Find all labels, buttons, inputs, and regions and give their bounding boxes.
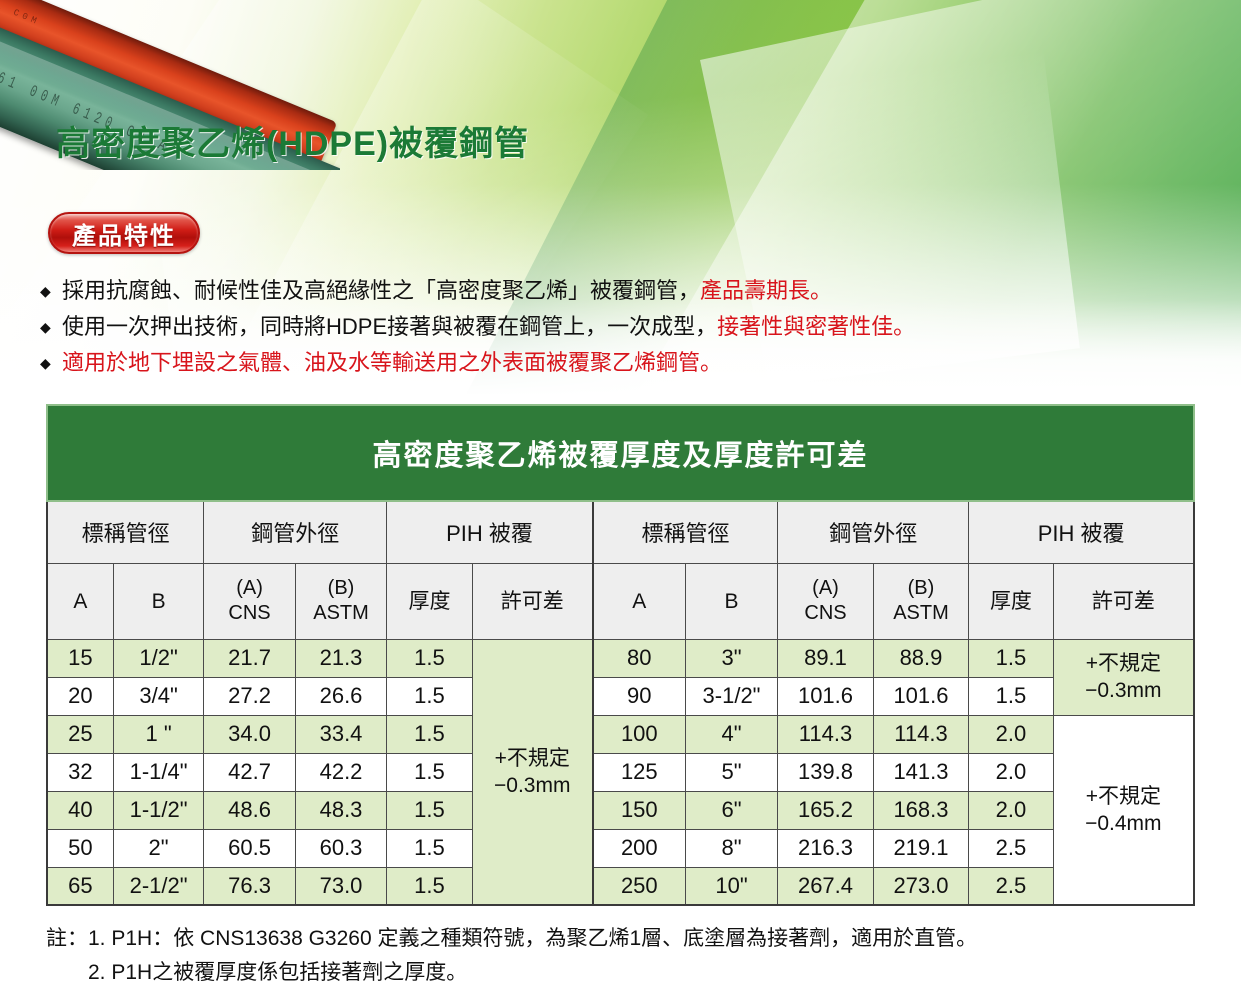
cell-cns: 267.4 bbox=[778, 867, 873, 905]
cell-a: 25 bbox=[47, 715, 113, 753]
sub-header-cns-right: (A) CNS bbox=[778, 563, 873, 639]
page-title: 高密度聚乙烯(HDPE)被覆鋼管 bbox=[56, 116, 529, 165]
cell-thickness: 2.5 bbox=[969, 867, 1053, 905]
sub-header-line2: 許可差 bbox=[1054, 589, 1193, 614]
table-caption-row: 高密度聚乙烯被覆厚度及厚度許可差 bbox=[47, 405, 1194, 501]
tolerance-line1: +不規定 bbox=[1054, 783, 1193, 810]
sub-header-thickness-left: 厚度 bbox=[387, 563, 472, 639]
cell-b: 3" bbox=[685, 639, 777, 677]
cell-astm: 114.3 bbox=[873, 715, 968, 753]
diamond-bullet-icon: ◆ bbox=[40, 348, 62, 378]
table-row: 65 2-1/2" 76.3 73.0 1.5 250 10" 267.4 27… bbox=[47, 867, 1194, 905]
sub-header-line2: B bbox=[686, 589, 777, 614]
sub-header-tolerance-right: 許可差 bbox=[1053, 563, 1194, 639]
sub-header-line2: CNS bbox=[204, 601, 294, 626]
cell-thickness: 1.5 bbox=[969, 677, 1053, 715]
cell-b: 1/2" bbox=[113, 639, 203, 677]
sub-header-b-right: B bbox=[685, 563, 777, 639]
sub-header-line2: 許可差 bbox=[473, 589, 592, 614]
cell-a: 90 bbox=[593, 677, 685, 715]
cell-cns: 139.8 bbox=[778, 753, 873, 791]
feature-text-highlight: 適用於地下埋設之氣體、油及水等輸送用之外表面被覆聚乙烯鋼管。 bbox=[62, 350, 722, 375]
cell-astm: 273.0 bbox=[873, 867, 968, 905]
product-features-badge: 產品特性 bbox=[48, 212, 200, 254]
cell-b: 3/4" bbox=[113, 677, 203, 715]
cell-thickness: 1.5 bbox=[969, 639, 1053, 677]
sub-header-line1: (A) bbox=[204, 576, 294, 601]
sub-header-a-right: A bbox=[593, 563, 685, 639]
sub-header-line2: ASTM bbox=[296, 601, 386, 626]
tolerance-line1: +不規定 bbox=[473, 745, 592, 772]
sub-header-astm-right: (B) ASTM bbox=[873, 563, 968, 639]
diamond-bullet-icon: ◆ bbox=[40, 276, 62, 306]
table-caption-cell: 高密度聚乙烯被覆厚度及厚度許可差 bbox=[47, 405, 1194, 501]
cell-cns: 89.1 bbox=[778, 639, 873, 677]
cell-a: 100 bbox=[593, 715, 685, 753]
group-header-outer-diameter-right: 鋼管外徑 bbox=[778, 501, 969, 563]
cell-a: 80 bbox=[593, 639, 685, 677]
cell-thickness: 2.0 bbox=[969, 753, 1053, 791]
cell-a: 200 bbox=[593, 829, 685, 867]
cell-b: 10" bbox=[685, 867, 777, 905]
table-caption-text: 高密度聚乙烯被覆厚度及厚度許可差 bbox=[372, 440, 868, 472]
feature-text-highlight: 產品壽期長。 bbox=[700, 278, 832, 303]
table-row: 50 2" 60.5 60.3 1.5 200 8" 216.3 219.1 2… bbox=[47, 829, 1194, 867]
group-header-nominal-diameter-right: 標稱管徑 bbox=[593, 501, 778, 563]
cell-cns: 34.0 bbox=[204, 715, 295, 753]
red-pipe-print: L C0M bbox=[0, 0, 42, 27]
list-item: ◆ 使用一次押出技術，同時將HDPE接著與被覆在鋼管上，一次成型，接著性與密著性… bbox=[40, 312, 1160, 342]
cell-a: 150 bbox=[593, 791, 685, 829]
cell-b: 6" bbox=[685, 791, 777, 829]
sub-header-line2: 厚度 bbox=[969, 589, 1052, 614]
cell-b: 2-1/2" bbox=[113, 867, 203, 905]
table-row: 20 3/4" 27.2 26.6 1.5 90 3-1/2" 101.6 10… bbox=[47, 677, 1194, 715]
cell-a: 15 bbox=[47, 639, 113, 677]
cell-astm: 33.4 bbox=[295, 715, 386, 753]
badge-label: 產品特性 bbox=[72, 216, 176, 251]
tolerance-line2: −0.4mm bbox=[1054, 810, 1193, 837]
cell-thickness: 1.5 bbox=[387, 753, 472, 791]
feature-text-plain: 使用一次押出技術，同時將HDPE接著與被覆在鋼管上，一次成型， bbox=[62, 314, 717, 339]
cell-cns: 165.2 bbox=[778, 791, 873, 829]
cell-astm: 73.0 bbox=[295, 867, 386, 905]
sub-header-row: A B (A) CNS (B) ASTM 厚度 許可差 A B bbox=[47, 563, 1194, 639]
cell-a: 125 bbox=[593, 753, 685, 791]
cell-a: 65 bbox=[47, 867, 113, 905]
cell-astm: 42.2 bbox=[295, 753, 386, 791]
feature-text: 採用抗腐蝕、耐候性佳及高絕緣性之「高密度聚乙烯」被覆鋼管，產品壽期長。 bbox=[62, 276, 832, 306]
cell-a: 20 bbox=[47, 677, 113, 715]
cell-cns: 216.3 bbox=[778, 829, 873, 867]
sub-header-line2: A bbox=[594, 589, 685, 614]
list-item: ◆ 採用抗腐蝕、耐候性佳及高絕緣性之「高密度聚乙烯」被覆鋼管，產品壽期長。 bbox=[40, 276, 1160, 306]
cell-thickness: 1.5 bbox=[387, 791, 472, 829]
cell-astm: 88.9 bbox=[873, 639, 968, 677]
sub-header-line2: 厚度 bbox=[387, 589, 471, 614]
cell-thickness: 1.5 bbox=[387, 639, 472, 677]
table-notes: 註：1. P1H：依 CNS13638 G3260 定義之種類符號，為聚乙烯1層… bbox=[46, 922, 1196, 990]
sub-header-cns-left: (A) CNS bbox=[204, 563, 295, 639]
cell-astm: 168.3 bbox=[873, 791, 968, 829]
tolerance-line2: −0.3mm bbox=[1054, 677, 1193, 704]
feature-text: 使用一次押出技術，同時將HDPE接著與被覆在鋼管上，一次成型，接著性與密著性佳。 bbox=[62, 312, 915, 342]
cell-astm: 48.3 bbox=[295, 791, 386, 829]
sub-header-tolerance-left: 許可差 bbox=[472, 563, 593, 639]
cell-tolerance-right-bottom: +不規定 −0.4mm bbox=[1053, 715, 1194, 905]
cell-thickness: 1.5 bbox=[387, 677, 472, 715]
feature-text-highlight: 接著性與密著性佳。 bbox=[717, 314, 915, 339]
list-item: ◆ 適用於地下埋設之氣體、油及水等輸送用之外表面被覆聚乙烯鋼管。 bbox=[40, 348, 1160, 378]
cell-cns: 60.5 bbox=[204, 829, 295, 867]
cell-a: 32 bbox=[47, 753, 113, 791]
cell-a: 50 bbox=[47, 829, 113, 867]
group-header-row: 標稱管徑 鋼管外徑 PIH 被覆 標稱管徑 鋼管外徑 PIH 被覆 bbox=[47, 501, 1194, 563]
group-header-nominal-diameter-left: 標稱管徑 bbox=[47, 501, 204, 563]
features-list: ◆ 採用抗腐蝕、耐候性佳及高絕緣性之「高密度聚乙烯」被覆鋼管，產品壽期長。 ◆ … bbox=[40, 276, 1160, 384]
table-row: 25 1 " 34.0 33.4 1.5 100 4" 114.3 114.3 … bbox=[47, 715, 1194, 753]
feature-text: 適用於地下埋設之氣體、油及水等輸送用之外表面被覆聚乙烯鋼管。 bbox=[62, 348, 722, 378]
cell-astm: 26.6 bbox=[295, 677, 386, 715]
cell-astm: 60.3 bbox=[295, 829, 386, 867]
sub-header-thickness-right: 厚度 bbox=[969, 563, 1053, 639]
sub-header-astm-left: (B) ASTM bbox=[295, 563, 386, 639]
tolerance-line2: −0.3mm bbox=[473, 772, 592, 799]
sub-header-b-left: B bbox=[113, 563, 203, 639]
cell-astm: 21.3 bbox=[295, 639, 386, 677]
sub-header-line2: A bbox=[48, 589, 113, 614]
cell-cns: 76.3 bbox=[204, 867, 295, 905]
cell-astm: 141.3 bbox=[873, 753, 968, 791]
cell-thickness: 1.5 bbox=[387, 715, 472, 753]
tolerance-line1: +不規定 bbox=[1054, 650, 1193, 677]
cell-b: 4" bbox=[685, 715, 777, 753]
cell-tolerance-right-top: +不規定 −0.3mm bbox=[1053, 639, 1194, 715]
cell-a: 40 bbox=[47, 791, 113, 829]
sub-header-a-left: A bbox=[47, 563, 113, 639]
cell-a: 250 bbox=[593, 867, 685, 905]
cell-b: 1 " bbox=[113, 715, 203, 753]
cell-cns: 27.2 bbox=[204, 677, 295, 715]
group-header-pih-coating-left: PIH 被覆 bbox=[387, 501, 593, 563]
sub-header-line2: ASTM bbox=[874, 601, 968, 626]
diamond-bullet-icon: ◆ bbox=[40, 312, 62, 342]
cell-thickness: 2.0 bbox=[969, 715, 1053, 753]
cell-cns: 42.7 bbox=[204, 753, 295, 791]
cell-thickness: 2.5 bbox=[969, 829, 1053, 867]
table-row: 15 1/2" 21.7 21.3 1.5 +不規定 −0.3mm 80 3" … bbox=[47, 639, 1194, 677]
note-line-1: 註：1. P1H：依 CNS13638 G3260 定義之種類符號，為聚乙烯1層… bbox=[46, 922, 1196, 956]
cell-thickness: 2.0 bbox=[969, 791, 1053, 829]
table-row: 32 1-1/4" 42.7 42.2 1.5 125 5" 139.8 141… bbox=[47, 753, 1194, 791]
group-header-outer-diameter-left: 鋼管外徑 bbox=[204, 501, 387, 563]
cell-cns: 114.3 bbox=[778, 715, 873, 753]
cell-b: 1-1/4" bbox=[113, 753, 203, 791]
table-row: 40 1-1/2" 48.6 48.3 1.5 150 6" 165.2 168… bbox=[47, 791, 1194, 829]
specification-table: 高密度聚乙烯被覆厚度及厚度許可差 標稱管徑 鋼管外徑 PIH 被覆 標稱管徑 鋼… bbox=[46, 404, 1195, 906]
cell-cns: 101.6 bbox=[778, 677, 873, 715]
cell-thickness: 1.5 bbox=[387, 867, 472, 905]
cell-cns: 21.7 bbox=[204, 639, 295, 677]
cell-b: 1-1/2" bbox=[113, 791, 203, 829]
sub-header-line2: B bbox=[114, 589, 203, 614]
cell-cns: 48.6 bbox=[204, 791, 295, 829]
cell-thickness: 1.5 bbox=[387, 829, 472, 867]
cell-b: 2" bbox=[113, 829, 203, 867]
feature-text-plain: 採用抗腐蝕、耐候性佳及高絕緣性之「高密度聚乙烯」被覆鋼管， bbox=[62, 278, 700, 303]
sub-header-line1: (B) bbox=[874, 576, 968, 601]
cell-astm: 101.6 bbox=[873, 677, 968, 715]
sub-header-line1: (A) bbox=[778, 576, 872, 601]
cell-b: 5" bbox=[685, 753, 777, 791]
cell-astm: 219.1 bbox=[873, 829, 968, 867]
cell-b: 3-1/2" bbox=[685, 677, 777, 715]
sub-header-line1: (B) bbox=[296, 576, 386, 601]
note-line-2: 2. P1H之被覆厚度係包括接著劑之厚度。 bbox=[46, 956, 1196, 990]
cell-b: 8" bbox=[685, 829, 777, 867]
cell-tolerance-left: +不規定 −0.3mm bbox=[472, 639, 593, 905]
group-header-pih-coating-right: PIH 被覆 bbox=[969, 501, 1194, 563]
sub-header-line2: CNS bbox=[778, 601, 872, 626]
